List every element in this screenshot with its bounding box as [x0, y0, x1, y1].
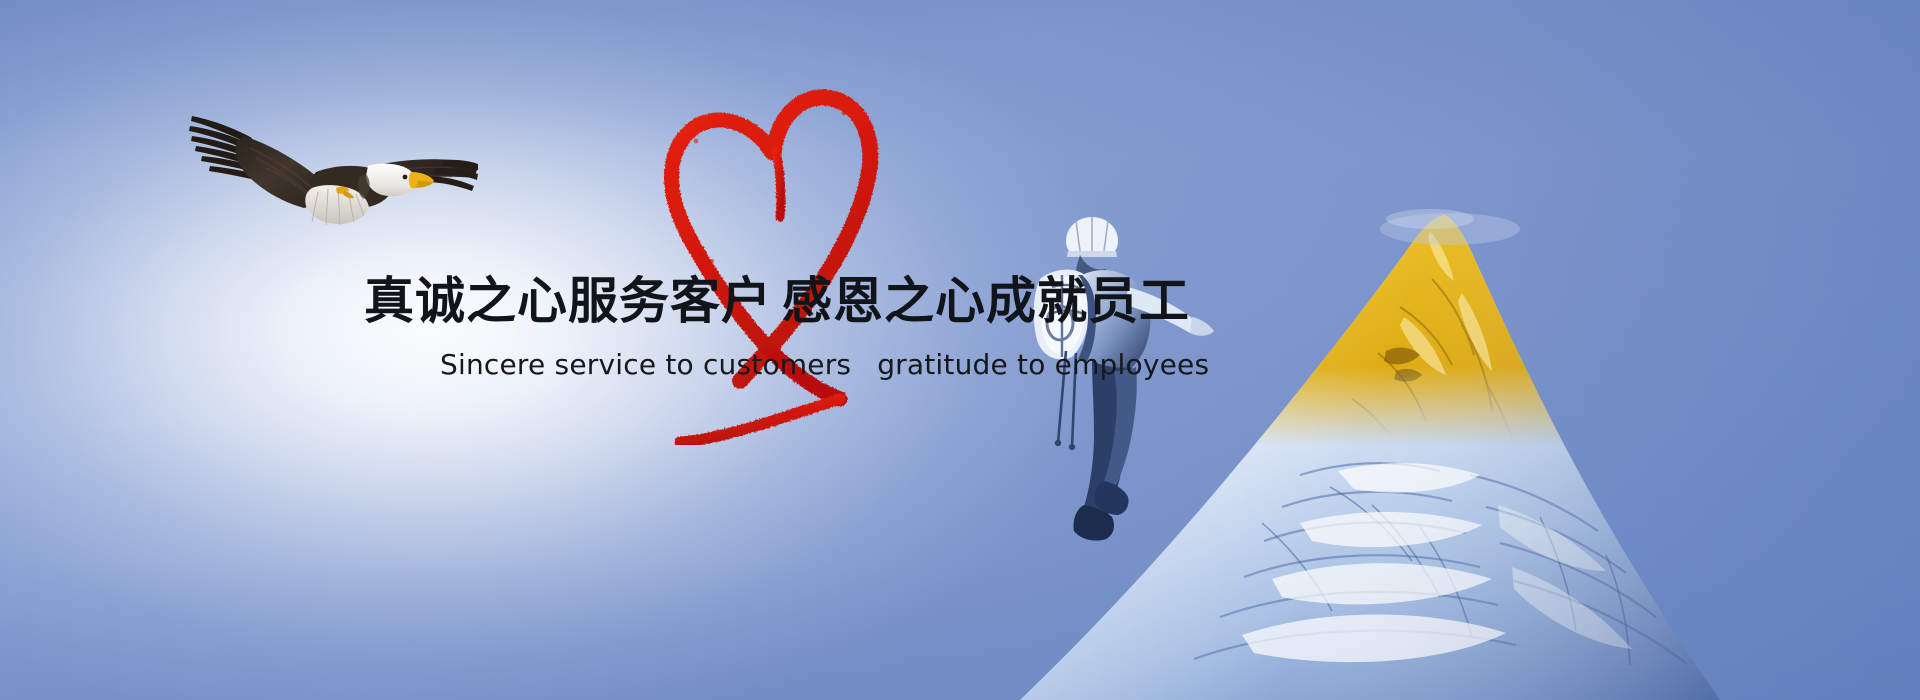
corporate-culture-banner: 真诚之心服务客户 感恩之心成就员工 Sincere service to cus…: [0, 0, 1920, 700]
mountain-icon: [1000, 175, 1920, 700]
heart-icon: [600, 55, 940, 445]
eagle-icon: [186, 96, 478, 232]
climber-icon: [1034, 217, 1214, 541]
